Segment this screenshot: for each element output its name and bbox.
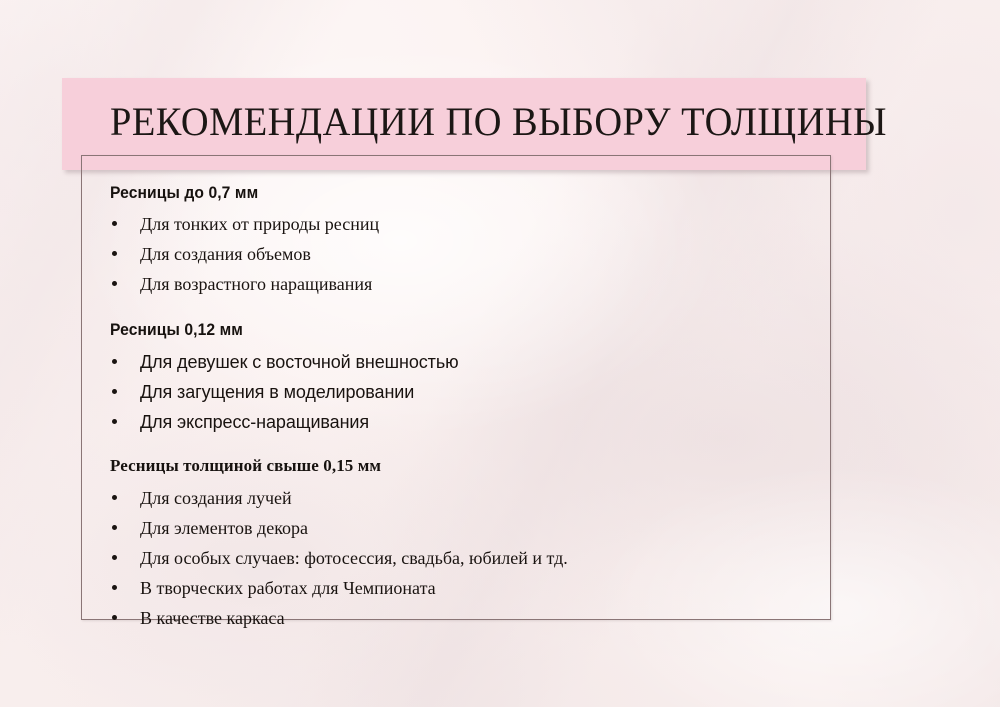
- list-item: Для загущения в моделировании: [82, 377, 1000, 407]
- section-thickness-0-12: Ресницы 0,12 мм Для девушек с восточной …: [0, 319, 1000, 437]
- list-item: В творческих работах для Чемпионата: [82, 573, 1000, 603]
- bullet-dot-icon: [112, 585, 117, 590]
- list-item-label: В творческих работах для Чемпионата: [140, 578, 436, 598]
- list-item-label: Для загущения в моделировании: [140, 382, 414, 402]
- section-heading: Ресницы 0,12 мм: [110, 319, 929, 341]
- list-item-label: Для экспресс-наращивания: [140, 412, 369, 432]
- list-item-label: Для тонких от природы ресниц: [140, 214, 379, 234]
- section-bullet-list: Для создания лучей Для элементов декора …: [82, 483, 1000, 633]
- list-item-label: Для особых случаев: фотосессия, свадьба,…: [140, 548, 568, 568]
- bullet-dot-icon: [112, 359, 117, 364]
- bullet-dot-icon: [112, 251, 117, 256]
- list-item: Для создания объемов: [82, 239, 1000, 269]
- section-bullet-list: Для девушек с восточной внешностью Для з…: [82, 347, 1000, 437]
- bullet-dot-icon: [112, 555, 117, 560]
- list-item: Для тонких от природы ресниц: [82, 209, 1000, 239]
- list-item-label: Для создания лучей: [140, 488, 292, 508]
- bullet-dot-icon: [112, 495, 117, 500]
- list-item: В качестве каркаса: [82, 603, 1000, 633]
- list-item: Для создания лучей: [82, 483, 1000, 513]
- list-item: Для возрастного наращивания: [82, 269, 1000, 299]
- list-item-label: Для элементов декора: [140, 518, 308, 538]
- list-item-label: Для девушек с восточной внешностью: [140, 352, 459, 372]
- list-item: Для особых случаев: фотосессия, свадьба,…: [82, 543, 1000, 573]
- list-item: Для экспресс-наращивания: [82, 407, 1000, 437]
- section-thickness-0-15: Ресницы толщиной свыше 0,15 мм Для созда…: [0, 455, 1000, 633]
- section-bullet-list: Для тонких от природы ресниц Для создани…: [82, 209, 1000, 299]
- bullet-dot-icon: [112, 419, 117, 424]
- bullet-dot-icon: [112, 221, 117, 226]
- bullet-dot-icon: [112, 525, 117, 530]
- list-item-label: Для возрастного наращивания: [140, 274, 372, 294]
- bullet-dot-icon: [112, 389, 117, 394]
- list-item-label: Для создания объемов: [140, 244, 311, 264]
- slide-title: РЕКОМЕНДАЦИИ ПО ВЫБОРУ ТОЛЩИНЫ: [110, 96, 840, 148]
- section-thickness-0-7: Ресницы до 0,7 мм Для тонких от природы …: [0, 182, 1000, 299]
- list-item-label: В качестве каркаса: [140, 608, 285, 628]
- slide-root: РЕКОМЕНДАЦИИ ПО ВЫБОРУ ТОЛЩИНЫ Ресницы д…: [0, 0, 1000, 707]
- list-item: Для элементов декора: [82, 513, 1000, 543]
- bullet-dot-icon: [112, 281, 117, 286]
- bullet-dot-icon: [112, 615, 117, 620]
- section-heading: Ресницы до 0,7 мм: [110, 182, 929, 204]
- list-item: Для девушек с восточной внешностью: [82, 347, 1000, 377]
- section-heading: Ресницы толщиной свыше 0,15 мм: [110, 455, 1000, 477]
